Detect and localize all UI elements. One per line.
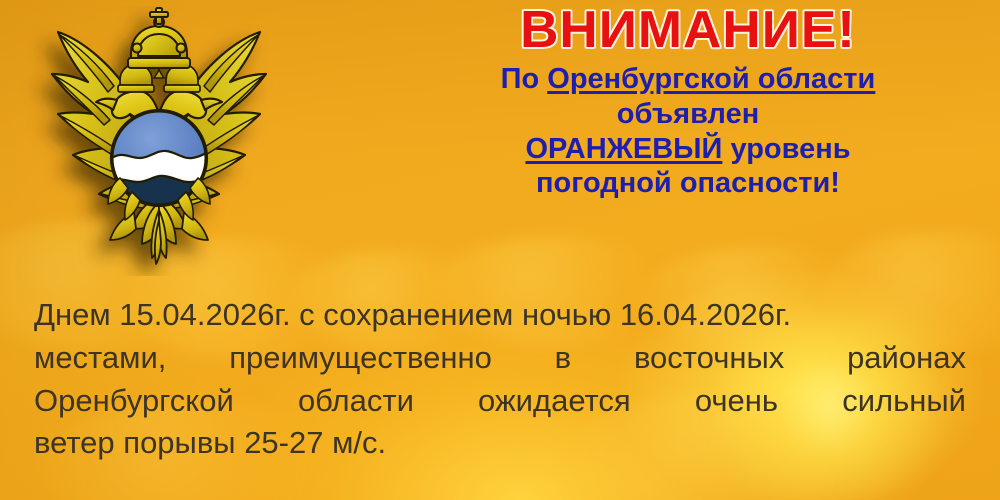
forecast-body-text: Днем 15.04.2026г. с сохранением ночью 16… [34,294,966,465]
body-word: районах [847,337,966,380]
body-line-4: ветер порывы 25-27 м/с. [34,422,966,465]
subhead-line-3: ОРАНЖЕВЫЙ уровень [376,132,1000,167]
warning-subheading: По Оренбургской области объявлен ОРАНЖЕВ… [376,62,1000,201]
body-word: в [555,337,571,380]
declared-word: объявлен [617,98,759,130]
body-word: очень [695,380,778,423]
roshydromet-emblem-icon [16,6,302,276]
body-line-3: Оренбургскойобластиожидаетсяоченьсильный [34,380,966,423]
warning-level-label: ОРАНЖЕВЫЙ [525,133,722,165]
body-word: ожидается [478,380,631,423]
body-word: сильный [842,380,966,423]
region-name: Оренбургской области [547,63,875,95]
body-word: области [298,380,414,423]
body-word: преимущественно [229,337,492,380]
subhead-line-4: погодной опасности! [376,166,1000,201]
subhead-prefix: По [501,63,548,95]
body-word: местами, [34,337,166,380]
subhead-line-1: По Оренбургской области [376,62,1000,97]
weather-warning-poster: ВНИМАНИЕ! По Оренбургской области объявл… [0,0,1000,500]
body-word: Оренбургской [34,380,234,423]
weather-danger-words: погодной опасности! [536,167,840,199]
subhead-line-2: объявлен [376,97,1000,132]
header-block: ВНИМАНИЕ! По Оренбургской области объявл… [376,2,1000,201]
body-word: восточных [634,337,784,380]
body-line-1: Днем 15.04.2026г. с сохранением ночью 16… [34,294,966,337]
attention-headline: ВНИМАНИЕ! [370,4,1000,56]
body-line-2: местами,преимущественноввосточныхрайонах [34,337,966,380]
level-word: уровень [722,133,850,165]
